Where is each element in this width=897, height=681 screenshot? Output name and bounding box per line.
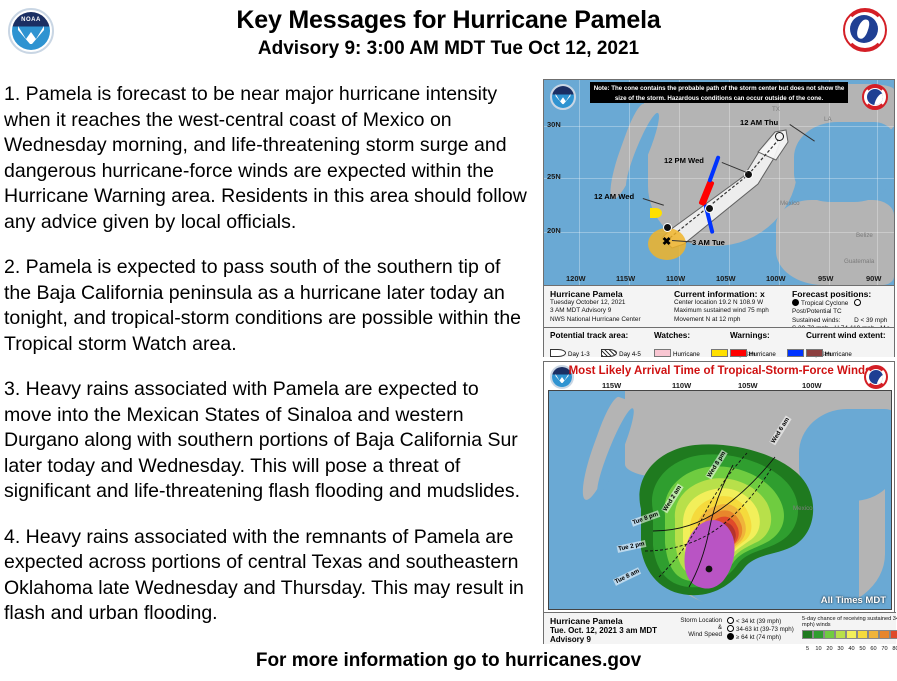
nws-logo-inner-globe [850,15,878,43]
arrival-lon-label-115w: 115W [602,381,621,390]
arrival-storm-center-marker [706,566,713,573]
prob-swatch-3 [835,630,846,639]
cone-fc-tropical-cyclone: Tropical Cyclone [801,300,848,307]
cone-info-storm-name: Hurricane Pamela [550,289,641,299]
arrival-probability-key: 5-day chance of receiving sustained 34+ … [802,616,897,652]
arrival-key-ge64: ≥ 64 kt (74 mph) [727,633,794,641]
cone-nws-inner [867,89,883,105]
potential-track-area-items: Day 1-3 Day 4-5 [550,343,648,361]
key-watch-hurricane: Hurricane [654,349,700,358]
prob-swatch-8 [890,630,897,639]
cone-map-noaa-logo [550,84,576,110]
key-message-2: 2. Pamela is expected to pass south of t… [4,255,528,357]
key-message-1: 1. Pamela is forecast to be near major h… [4,82,528,235]
nws-logo [843,8,887,52]
cone-info-date: Tuesday October 12, 2021 [550,299,641,307]
forecast-cone-shape [544,80,894,285]
key-day13-label: Day 1-3 [568,351,590,358]
arrival-country-label-mexico: Mexico [793,505,813,512]
cone-forecast-positions-heading: Forecast positions: [792,289,892,299]
arrival-lon-label-100w: 100W [802,381,822,390]
arrival-wind-speed-label: Wind Speed [672,631,722,638]
cone-info-advisory: 3 AM MDT Advisory 9 [550,307,641,315]
cone-lon-label-110w: 110W [666,274,685,283]
cone-day13-glyph-icon [550,349,566,357]
cone-lon-label-120w: 120W [566,274,586,283]
cone-key-legend: Potential track area: Day 1-3 Day 4-5 Wa… [544,327,894,357]
page-title: Key Messages for Hurricane Pamela [0,6,897,35]
cone-info-legend: Hurricane Pamela Tuesday October 12, 202… [544,285,894,327]
cone-sustained-winds-label: Sustained winds: [792,317,840,324]
key-day45-label: Day 4-5 [619,351,641,358]
key-day45: Day 4-5 [601,349,641,358]
key-ext-hurricane: Hurricane [806,349,852,358]
key-warn-hurricane: Hurricane [730,349,776,358]
cone-day45-glyph-icon [601,349,617,357]
arrival-nws-logo [864,365,888,389]
cone-forecast-symbols-row: Tropical Cyclone Post/Potential TC [792,299,892,317]
cone-max-wind: Maximum sustained wind 75 mph [674,307,769,315]
footer-more-information: For more information go to hurricanes.go… [0,650,897,672]
watch-tropstm-swatch-icon [711,349,728,357]
cone-info-agency: NWS National Hurricane Center [550,316,641,324]
prob-swatch-6 [868,630,879,639]
arrival-time-panel: Most Likely Arrival Time of Tropical-Sto… [543,361,895,644]
warn-tropstm-swatch-icon [787,349,804,357]
probability-color-scale [802,630,897,639]
key-warn-hurricane-label: Hurricane [749,351,776,358]
arrival-key-mid-label: 34-63 kt (39-73 mph) [736,626,794,633]
cone-current-info-label: Current information: [674,289,758,299]
cone-fc-post-potential: Post/Potential TC [792,308,842,315]
arrival-info-legend: Hurricane Pamela Tue. Oct. 12, 2021 3 am… [544,612,896,644]
forecast-cone-panel: ✖ Note: The cone contains the probable p… [543,79,895,357]
cone-lon-label-100w: 100W [766,274,786,283]
cone-lat-label-25n: 25N [547,172,561,181]
wind-ge64-dot-icon [727,633,734,640]
key-watch-hurricane-label: Hurricane [673,351,700,358]
cone-lon-label-105w: 105W [716,274,736,283]
arrival-nws-inner [869,370,883,384]
arrival-prob-heading: 5-day chance of receiving sustained 34+ … [802,616,897,628]
arrival-all-times-label: All Times MDT [821,595,886,606]
arrival-key-ge64-label: ≥ 64 kt (74 mph) [736,634,781,641]
arrival-storm-name: Hurricane Pamela [550,616,657,626]
arrival-storm-block: Hurricane Pamela Tue. Oct. 12, 2021 3 am… [550,616,657,644]
cone-current-info-heading: Current information: x [674,289,769,299]
probability-band-group [639,444,813,595]
cone-time-label-3am-tue: 3 AM Tue [692,238,725,247]
key-day13: Day 1-3 [550,349,590,358]
cone-current-info-block: Current information: x Center location 1… [674,289,769,324]
cone-lat-label-30n: 30N [547,120,561,129]
potential-track-area-key: Potential track area: Day 1-3 Day 4-5 [550,331,648,361]
page-header: NOAA Key Messages for Hurricane Pamela A… [0,0,897,76]
key-message-3: 3. Heavy rains associated with Pamela ar… [4,377,528,505]
key-ext-hurricane-label: Hurricane [825,351,852,358]
cone-country-label-tx: TX [772,106,780,113]
cone-info-storm-block: Hurricane Pamela Tuesday October 12, 202… [550,289,641,324]
arrival-key-lt34: < 34 kt (39 mph) [727,617,794,625]
cone-note-banner: Note: The cone contains the probable pat… [590,82,848,103]
cone-sw-d: D < 39 mph [854,317,887,324]
cone-current-info-x-symbol: x [760,289,765,299]
ext-hurricane-swatch-icon [806,349,823,357]
cone-noaa-seagull-icon [555,93,571,105]
cone-lon-label-115w: 115W [616,274,635,283]
arrival-key-lt34-label: < 34 kt (39 mph) [736,618,781,625]
forecast-position-day45 [775,132,784,141]
cone-country-label-belize: Belize [856,232,873,239]
key-messages-list: 1. Pamela is forecast to be near major h… [4,82,528,647]
cone-movement: Movement N at 12 mph [674,316,769,324]
forecast-cone-map: ✖ Note: The cone contains the probable p… [544,80,894,285]
cone-time-label-12pm-wed: 12 PM Wed [664,156,704,165]
prob-swatch-5 [857,630,868,639]
cone-time-label-12am-thu: 12 AM Thu [740,118,778,127]
prob-swatch-2 [824,630,835,639]
post-potential-tc-dot-icon [854,299,861,306]
wind-lt34-dot-icon [727,617,734,624]
current-center-x-marker: ✖ [662,238,671,247]
cone-map-nws-logo [862,84,888,110]
arrival-key-mid: 34-63 kt (39-73 mph) [727,625,794,633]
watch-hurricane-swatch-icon [654,349,671,357]
prob-swatch-7 [879,630,890,639]
arrival-advisory: Advisory 9 [550,635,657,644]
wind-extent-heading: Current wind extent: [806,331,894,340]
potential-track-area-heading: Potential track area: [550,331,648,340]
prob-swatch-0 [802,630,813,639]
warn-hurricane-swatch-icon [730,349,747,357]
cone-sustained-winds-row: Sustained winds: D < 39 mph [792,317,892,325]
arrival-probability-contours [549,391,892,610]
wind-mid-dot-icon [727,625,734,632]
arrival-symbol-labels: Storm Location & Wind Speed [672,617,722,638]
cone-lat-label-20n: 20N [547,226,561,235]
page-subtitle: Advisory 9: 3:00 AM MDT Tue Oct 12, 2021 [0,38,897,60]
arrival-symbol-key: < 34 kt (39 mph) 34-63 kt (39-73 mph) ≥ … [727,617,794,641]
prob-swatch-4 [846,630,857,639]
tropical-storm-watch-baja-segment [650,208,662,218]
cone-time-label-12am-wed: 12 AM Wed [594,192,634,201]
cone-center-location: Center location 19.2 N 108.9 W [674,299,769,307]
arrival-lon-label-105w: 105W [738,381,758,390]
cone-country-label-mexico: Mexico [780,200,800,207]
arrival-storm-location-label: Storm Location [672,617,722,624]
cone-lon-label-95w: 95W [818,274,833,283]
cone-country-label-la: LA [824,116,832,123]
key-message-4: 4. Heavy rains associated with the remna… [4,525,528,627]
cone-lon-label-90w: 90W [866,274,881,283]
cone-country-label-guatemala: Guatemala [844,258,874,265]
forecast-position-current-node [663,223,672,232]
arrival-date: Tue. Oct. 12, 2021 3 am MDT [550,626,657,635]
arrival-ampersand: & [672,624,722,631]
cone-noaa-disc [552,86,574,108]
arrival-map-title: Most Likely Arrival Time of Tropical-Sto… [544,365,896,377]
tropical-cyclone-dot-icon [792,299,799,306]
arrival-time-map: Wed 6 am Wed 8 pm Wed 2 am Tue 8 pm Tue … [548,390,892,610]
prob-swatch-1 [813,630,824,639]
forecast-position-hurricane-2 [705,204,714,213]
arrival-lon-label-110w: 110W [672,381,691,390]
